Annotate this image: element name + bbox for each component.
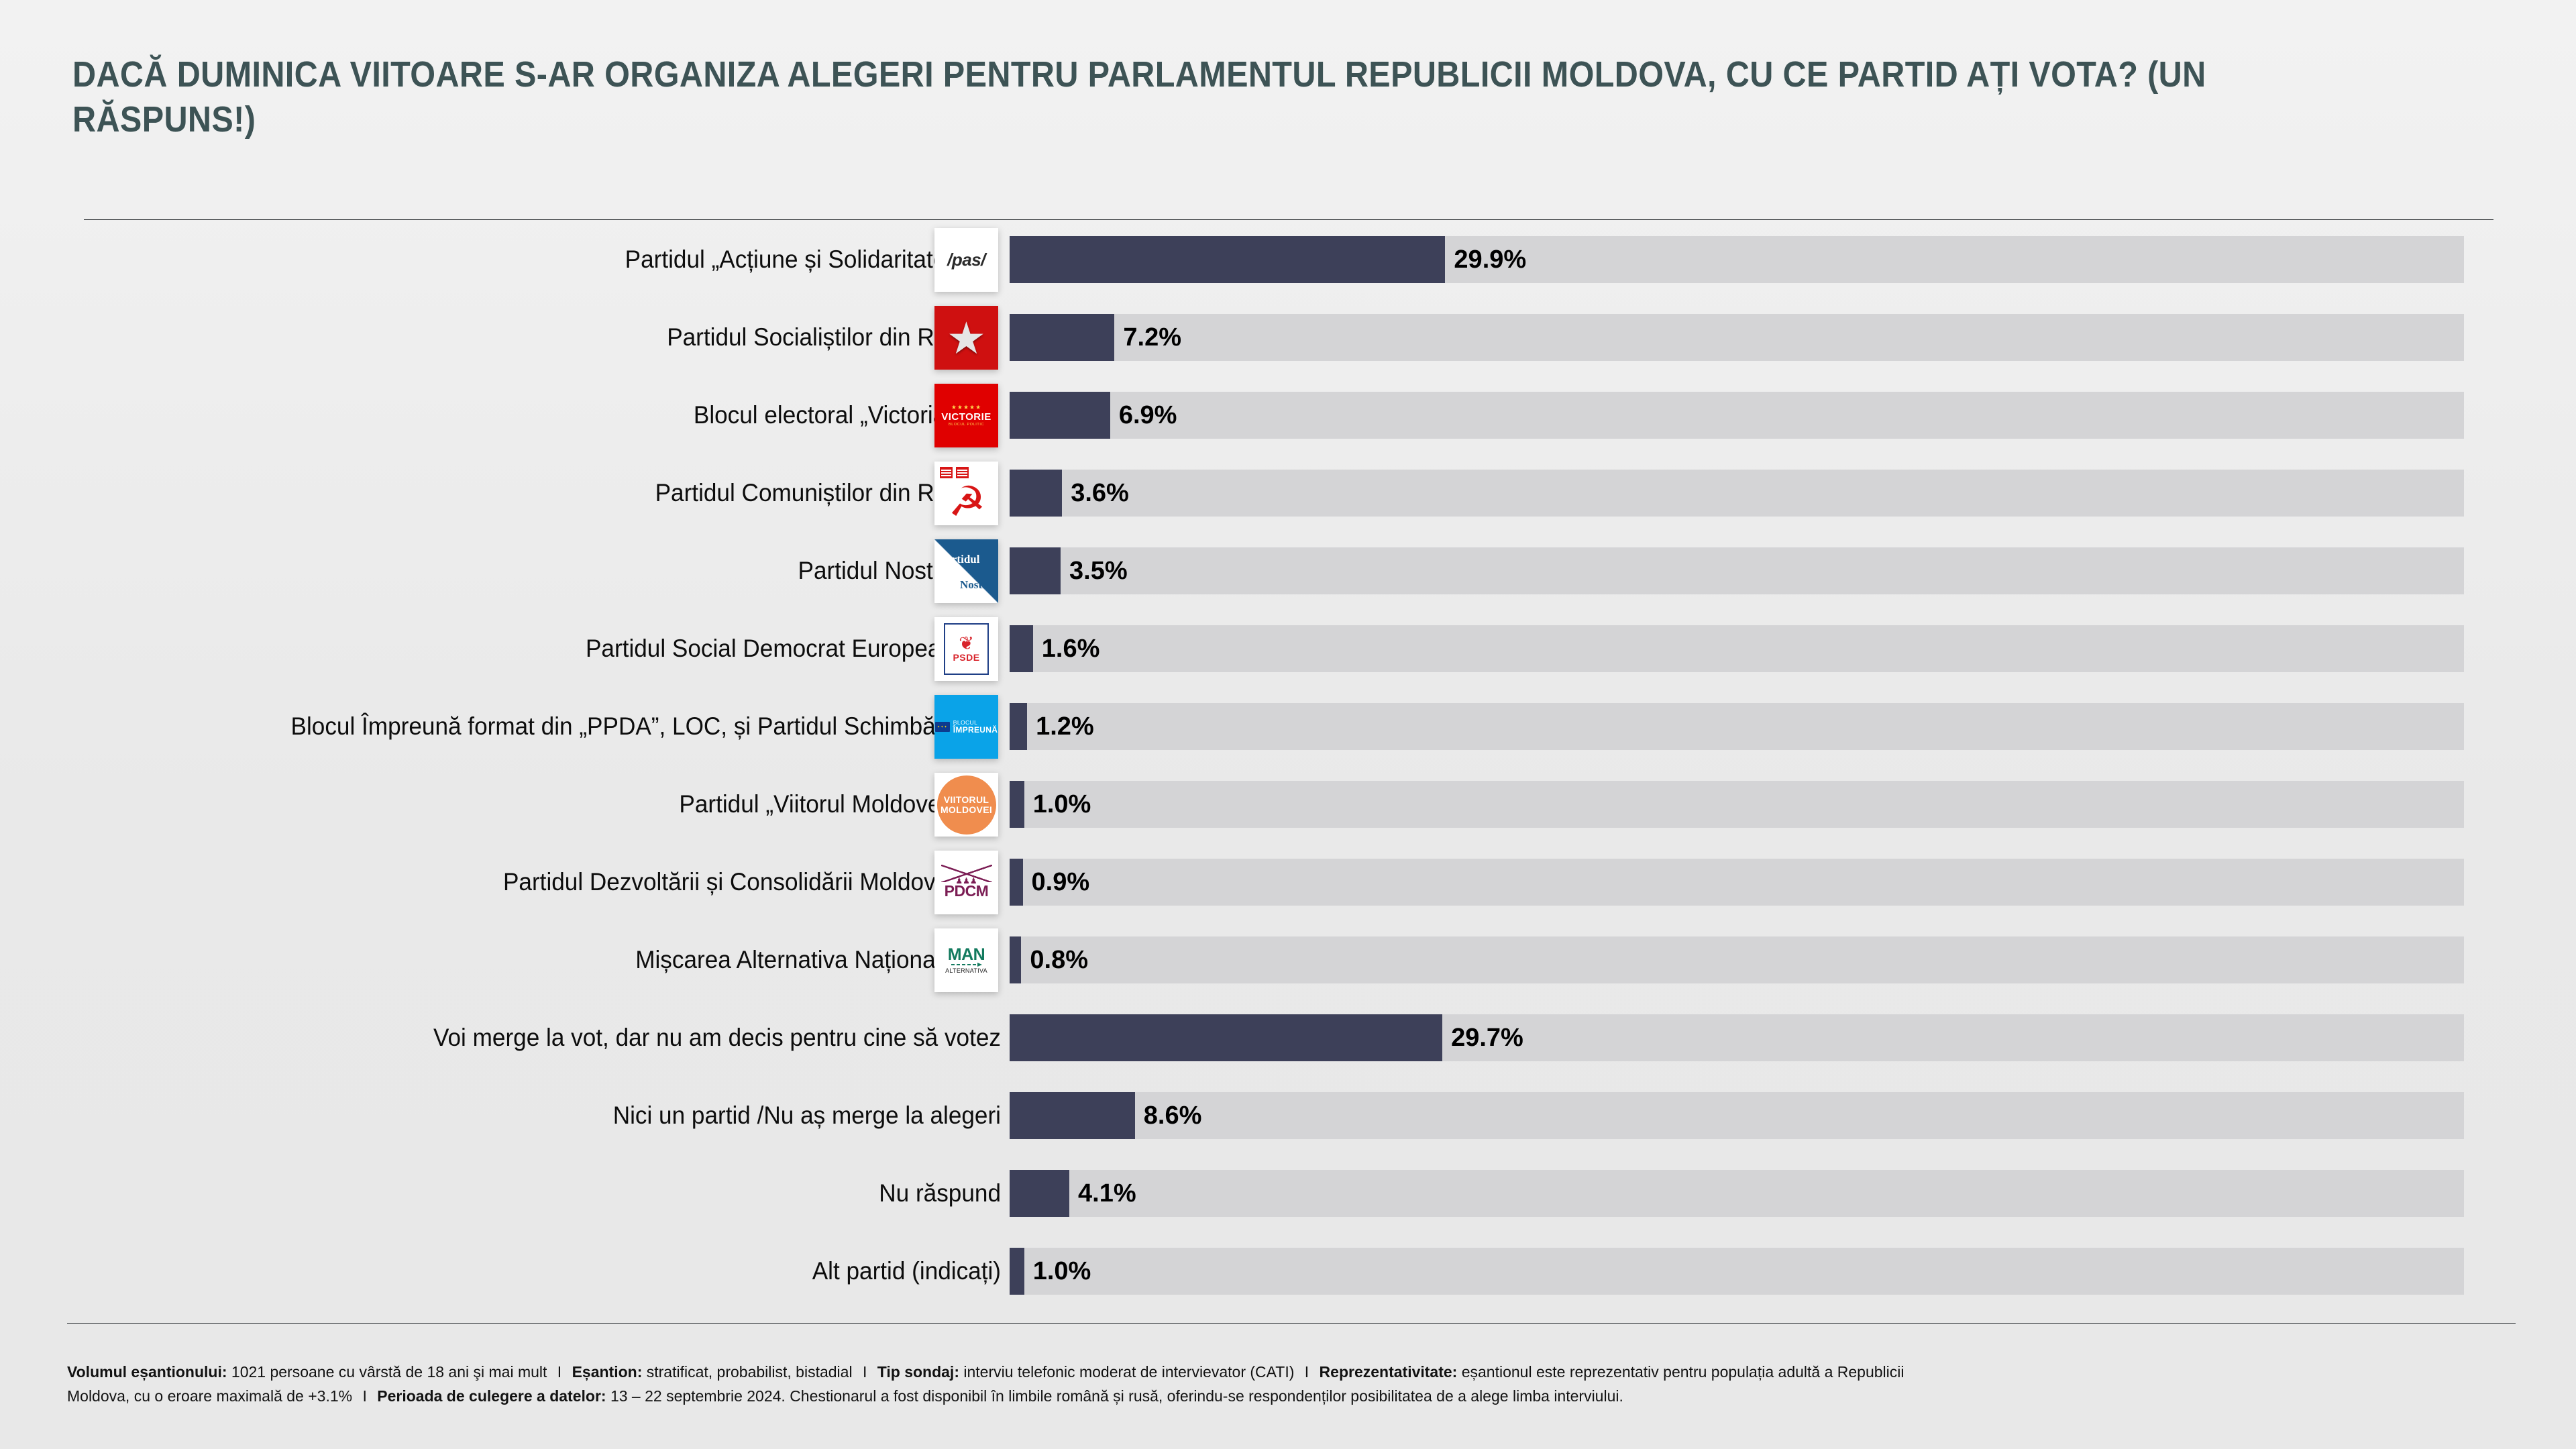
top-divider: [84, 219, 2493, 220]
bar-value-label: 8.6%: [1135, 1092, 1202, 1139]
row-label: Alt partid (indicați): [160, 1248, 1001, 1295]
books-icon: [940, 467, 969, 478]
row-label: Partidul „Acțiune și Solidaritate”: [113, 236, 954, 283]
bar-track: 8.6%: [1010, 1092, 2464, 1139]
logo-nostru-word1: Partidul: [939, 553, 979, 566]
logo-psde-text: PSDE: [953, 652, 979, 663]
row-label: Nici un partid /Nu aș merge la alegeri: [160, 1092, 1001, 1139]
logo-viitorul-line2: MOLDOVEI: [941, 805, 992, 815]
row-label: Partidul Dezvoltării și Consolidării Mol…: [113, 859, 954, 906]
chart-row: Voi merge la vot, dar nu am decis pentru…: [0, 1014, 2576, 1092]
row-label: Partidul Nostru: [113, 547, 954, 594]
bar: [1010, 936, 1021, 983]
chart-row: Nici un partid /Nu aș merge la alegeri8.…: [0, 1092, 2576, 1170]
footer-separator: I: [551, 1363, 568, 1381]
party-logo: ♟♟♟PDCM: [934, 851, 998, 914]
logo-man-text: MAN: [948, 947, 985, 962]
bar-track: 29.7%: [1010, 1014, 2464, 1061]
bar-value-label: 29.7%: [1442, 1014, 1523, 1061]
footer-key-period: Perioada de culegere a datelor:: [377, 1387, 606, 1405]
bar-track: 6.9%: [1010, 392, 2464, 439]
chart-row: Partidul NostruPartidulNostru3.5%: [0, 547, 2576, 625]
chart-row: Partidul „Acțiune și Solidaritate”/pas/2…: [0, 236, 2576, 314]
footer-line-2: Moldova, cu o eroare maximală de +3.1% I…: [67, 1385, 2522, 1409]
party-logo: ❦PSDE: [934, 617, 998, 681]
bar-value-label: 4.1%: [1069, 1170, 1136, 1217]
logo-victoria-sub: BLOCUL POLITIC: [949, 423, 984, 427]
row-label: Blocul electoral „Victoria”: [113, 392, 954, 439]
footer-key-sample-size: Volumul eșantionului:: [67, 1363, 227, 1381]
bar-value-label: 3.6%: [1062, 470, 1129, 517]
bar-track: 3.6%: [1010, 470, 2464, 517]
footer-key-representativity: Reprezentativitate:: [1320, 1363, 1458, 1381]
diagonal-shape: [934, 539, 998, 603]
bar-track: 3.5%: [1010, 547, 2464, 594]
footer-separator-4: I: [356, 1387, 372, 1405]
logo-partidul-nostru: PartidulNostru: [934, 539, 998, 603]
stars-icon: ★★★★★: [951, 405, 981, 411]
star-icon: ★: [947, 316, 986, 360]
bar-value-label: 7.2%: [1114, 314, 1181, 361]
chart-row: Blocul Împreună format din „PPDA”, LOC, …: [0, 703, 2576, 781]
bar: [1010, 236, 1445, 283]
chart-row: Partidul Socialiștilor din RM★7.2%: [0, 314, 2576, 392]
footer-val-sample-type: stratificat, probabilist, bistadial: [647, 1363, 853, 1381]
chart-row: Partidul Dezvoltării și Consolidării Mol…: [0, 859, 2576, 936]
bar-track: 1.0%: [1010, 781, 2464, 828]
footer-separator-2: I: [857, 1363, 873, 1381]
logo-psde-frame: ❦PSDE: [944, 623, 989, 675]
logo-viitorul-moldovei: VIITORULMOLDOVEI: [934, 773, 998, 837]
footer-key-survey-type: Tip sondaj:: [877, 1363, 959, 1381]
bar: [1010, 1014, 1442, 1061]
chart-row: Alt partid (indicați)1.0%: [0, 1248, 2576, 1326]
logo-viitorul-circle: VIITORULMOLDOVEI: [937, 775, 996, 835]
hammer-sickle-icon: ☭: [938, 482, 996, 523]
logo-pdcm: ♟♟♟PDCM: [934, 851, 998, 914]
bar-value-label: 0.8%: [1021, 936, 1088, 983]
bar-track: 29.9%: [1010, 236, 2464, 283]
logo-impreuna-line2: ÎMPREUNĂ: [953, 726, 998, 735]
party-logo: BLOCULÎMPREUNĂ: [934, 695, 998, 759]
bar-value-label: 1.6%: [1033, 625, 1100, 672]
row-label: Voi merge la vot, dar nu am decis pentru…: [160, 1014, 1001, 1061]
arrow-icon: [951, 963, 982, 967]
logo-blocul-impreuna: BLOCULÎMPREUNĂ: [934, 695, 998, 759]
footer-val-period: 13 – 22 septembrie 2024. Chestionarul a …: [610, 1387, 1623, 1405]
bar-value-label: 1.0%: [1024, 781, 1091, 828]
party-logo: ☭: [934, 462, 998, 525]
logo-pas: /pas/: [934, 228, 998, 292]
bar: [1010, 703, 1027, 750]
bar-track: 0.9%: [1010, 859, 2464, 906]
chart-row: Nu răspund4.1%: [0, 1170, 2576, 1248]
row-label: Partidul Social Democrat European: [113, 625, 954, 672]
chart-row: Blocul electoral „Victoria”★★★★★VICTORIE…: [0, 392, 2576, 470]
bar-track: 1.6%: [1010, 625, 2464, 672]
methodology-footer: Volumul eșantionului: 1021 persoane cu v…: [67, 1360, 2522, 1408]
bar-track: 4.1%: [1010, 1170, 2464, 1217]
row-label: Nu răspund: [160, 1170, 1001, 1217]
logo-impreuna-label: BLOCULÎMPREUNĂ: [953, 720, 998, 735]
row-label: Blocul Împreună format din „PPDA”, LOC, …: [113, 703, 954, 750]
bar: [1010, 781, 1024, 828]
logo-pdcm-text: PDCM: [945, 882, 989, 900]
logo-pas-text: /pas/: [947, 250, 985, 270]
bar-value-label: 6.9%: [1110, 392, 1177, 439]
bar: [1010, 470, 1062, 517]
footer-line-1: Volumul eșantionului: 1021 persoane cu v…: [67, 1360, 2522, 1385]
house-roof-icon: [941, 865, 992, 882]
footer-val-survey-type: interviu telefonic moderat de intervieva…: [963, 1363, 1294, 1381]
party-logo: ★: [934, 306, 998, 370]
logo-viitorul-line1: VIITORUL: [944, 795, 989, 805]
row-label: Partidul „Viitorul Moldovei”: [113, 781, 954, 828]
footer-divider: [67, 1323, 2516, 1324]
bar-track: 1.0%: [1010, 1248, 2464, 1295]
bar-track: 0.8%: [1010, 936, 2464, 983]
logo-man: MANALTERNATIVA: [934, 928, 998, 992]
bar: [1010, 314, 1114, 361]
bar-value-label: 3.5%: [1061, 547, 1128, 594]
logo-man-sub: ALTERNATIVA: [945, 967, 987, 974]
party-logo: ★★★★★VICTORIEBLOCUL POLITIC: [934, 384, 998, 447]
footer-separator-3: I: [1299, 1363, 1315, 1381]
bar-track: 1.2%: [1010, 703, 2464, 750]
page-title: DACĂ DUMINICA VIITOARE S-AR ORGANIZA ALE…: [72, 52, 2270, 142]
logo-nostru-word2: Nostru: [960, 578, 994, 592]
bar-value-label: 1.0%: [1024, 1248, 1091, 1295]
party-logo: /pas/: [934, 228, 998, 292]
logo-pcrm: ☭: [934, 462, 998, 525]
bar: [1010, 1170, 1069, 1217]
party-logo: PartidulNostru: [934, 539, 998, 603]
chart-row: Partidul Social Democrat European❦PSDE1.…: [0, 625, 2576, 703]
bar: [1010, 625, 1033, 672]
bar-value-label: 0.9%: [1023, 859, 1090, 906]
bar: [1010, 859, 1023, 906]
logo-psrm: ★: [934, 306, 998, 370]
chart-row: Partidul „Viitorul Moldovei”VIITORULMOLD…: [0, 781, 2576, 859]
bar: [1010, 392, 1110, 439]
logo-victoria: ★★★★★VICTORIEBLOCUL POLITIC: [934, 384, 998, 447]
bar-track: 7.2%: [1010, 314, 2464, 361]
chart-row: Partidul Comuniștilor din RM☭3.6%: [0, 470, 2576, 547]
party-logo: MANALTERNATIVA: [934, 928, 998, 992]
title-block: DACĂ DUMINICA VIITOARE S-AR ORGANIZA ALE…: [72, 52, 2514, 142]
bar: [1010, 547, 1061, 594]
footer-val-representativity: eșantionul este reprezentativ pentru pop…: [1462, 1363, 1904, 1381]
bar-value-label: 1.2%: [1027, 703, 1094, 750]
row-label: Partidul Socialiștilor din RM: [113, 314, 954, 361]
rose-icon: ❦: [959, 635, 974, 651]
logo-victoria-name: VICTORIE: [941, 412, 991, 422]
logo-psde: ❦PSDE: [934, 617, 998, 681]
bar: [1010, 1248, 1024, 1295]
bar: [1010, 1092, 1135, 1139]
chart-row: Mișcarea Alternativa NaționalăMANALTERNA…: [0, 936, 2576, 1014]
bar-chart: Partidul „Acțiune și Solidaritate”/pas/2…: [0, 236, 2576, 1326]
row-label: Partidul Comuniștilor din RM: [113, 470, 954, 517]
row-label: Mișcarea Alternativa Națională: [113, 936, 954, 983]
party-logo: VIITORULMOLDOVEI: [934, 773, 998, 837]
eu-flag-icon: [935, 722, 950, 732]
footer-key-sample-type: Eșantion:: [572, 1363, 643, 1381]
bar-value-label: 29.9%: [1445, 236, 1526, 283]
footer-val-margin-error: Moldova, cu o eroare maximală de +3.1%: [67, 1387, 352, 1405]
footer-val-sample-size: 1021 persoane cu vârstă de 18 ani şi mai…: [231, 1363, 547, 1381]
